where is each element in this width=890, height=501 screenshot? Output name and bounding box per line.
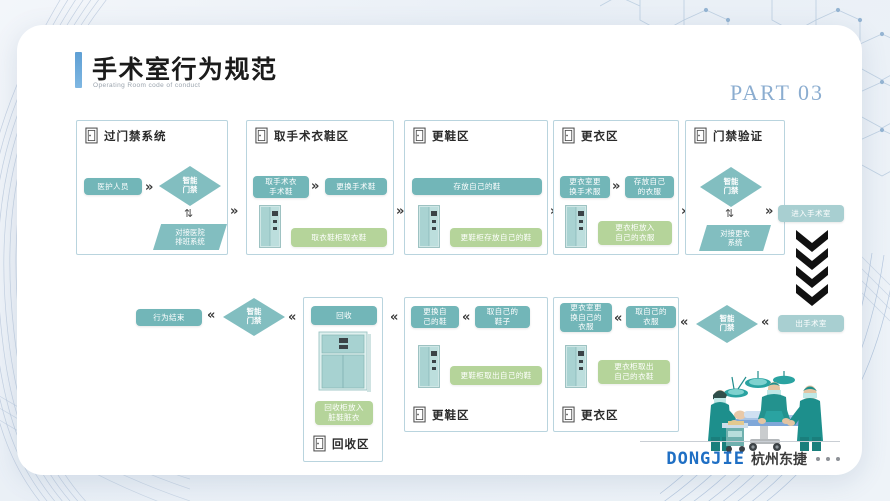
panel-take-gown-shoes: 取手术衣鞋区 取手术衣手术鞋 » 更换手术鞋 取衣鞋柜取衣鞋: [246, 120, 394, 255]
logo-chinese-name: 杭州东捷: [751, 449, 807, 469]
node-locker-note: 更衣柜取出自己的衣鞋: [598, 360, 670, 384]
arrow-right: »: [145, 181, 151, 194]
node-exit-operating-room[interactable]: 出手术室: [778, 315, 844, 332]
node-locker-note: 更鞋柜取出自己的鞋: [450, 366, 542, 385]
panel-bottom-change-shoes-area: 更换自己的鞋 « 取自己的鞋子 更鞋柜取出自己的鞋 更鞋区: [404, 297, 548, 432]
arrow-right: «: [462, 311, 468, 324]
panel-change-shoes-area: 更鞋区 存放自己的鞋 更鞋柜存放自己的鞋: [404, 120, 548, 255]
node-change-surgical-gown[interactable]: 更衣室更换手术服: [560, 176, 610, 198]
recycle-cabinet-icon: [318, 331, 372, 395]
arrow-right: «: [614, 312, 620, 325]
arrow-right: »: [311, 180, 317, 193]
node-change-surgical-shoes[interactable]: 更换手术鞋: [325, 178, 387, 195]
panel-label: 取手术衣鞋区: [274, 128, 349, 144]
node-enter-operating-room[interactable]: 进入手术室: [778, 205, 844, 222]
arrow-gate-to-end: «: [207, 309, 213, 322]
logo-dots: [816, 457, 840, 461]
arrow-gate-to-clothes: «: [680, 316, 686, 329]
panel-recycle-area: 回收 回收柜放入脏鞋脏衣 回收区: [303, 297, 383, 462]
panel-label: 更鞋区: [432, 128, 470, 144]
panel-title-take-gown-shoes: 取手术衣鞋区: [255, 127, 349, 144]
arrow-shoes-to-recycle: «: [390, 311, 396, 324]
panel-title-change-clothes-area: 更衣区: [562, 127, 619, 144]
arrow-right: »: [612, 180, 618, 193]
node-store-own-clothes[interactable]: 存放自己的衣服: [625, 176, 674, 198]
page-title: 手术室行为规范: [92, 50, 278, 86]
part-label: PART 03: [730, 80, 824, 106]
cabinet-icon: [259, 205, 283, 248]
node-locker-note: 更鞋柜存放自己的鞋: [450, 228, 542, 247]
cabinet-icon: [565, 345, 589, 388]
door-icon: [413, 406, 426, 423]
node-access-gate[interactable]: 智能门禁: [700, 167, 762, 207]
door-icon: [85, 127, 98, 144]
arrow-panel5-to-enter: »: [765, 205, 771, 218]
panel-title-change-shoes-area: 更鞋区: [413, 127, 470, 144]
slide-card: 手术室行为规范 Operating Room code of conduct P…: [17, 25, 862, 475]
panel-label: 更衣区: [581, 407, 619, 423]
cabinet-icon: [565, 205, 589, 248]
node-locker-note: 更衣柜放入自己的衣服: [598, 221, 672, 245]
door-icon: [313, 435, 326, 452]
door-icon: [694, 127, 707, 144]
panel-bottom-change-clothes-area: 更衣室更换自己的衣服 « 取自己的衣服 更衣柜取出自己的衣鞋 更衣区: [553, 297, 679, 432]
arrow-recycle-to-gate: «: [288, 311, 294, 324]
node-take-own-shoes[interactable]: 取自己的鞋子: [475, 306, 530, 328]
node-access-gate[interactable]: 智能门禁: [159, 166, 221, 206]
panel-label: 过门禁系统: [104, 128, 167, 144]
panel-access-verification: 门禁验证 智能门禁 ⇅ 对接更衣系统: [685, 120, 785, 255]
arrow-exit-to-gate: «: [761, 316, 767, 329]
node-locker-system[interactable]: 对接更衣系统: [699, 225, 771, 251]
node-access-gate-end[interactable]: 智能门禁: [223, 298, 285, 336]
panel-label: 门禁验证: [713, 128, 763, 144]
footer-divider: [640, 441, 840, 442]
down-chevrons-group: [792, 230, 832, 306]
node-person[interactable]: 医护人员: [84, 178, 142, 195]
arrow-panel2-to-panel3: »: [396, 205, 402, 218]
node-hospital-shift-system[interactable]: 对接医院排班系统: [153, 224, 227, 250]
arrow-panel1-to-panel2: »: [230, 205, 236, 218]
slide-header: 手术室行为规范 Operating Room code of conduct P…: [17, 25, 862, 100]
panel-change-clothes-area: 更衣区 更衣室更换手术服 » 存放自己的衣服 更衣柜放入自己的衣服: [553, 120, 679, 255]
node-access-gate-exit[interactable]: 智能门禁: [696, 305, 758, 343]
node-change-own-shoes[interactable]: 更换自己的鞋: [411, 306, 459, 328]
logo-wordmark: DONGJIE: [666, 449, 745, 469]
door-icon: [413, 127, 426, 144]
door-icon: [562, 127, 575, 144]
panel-title-bottom-change-clothes-area: 更衣区: [562, 406, 619, 423]
door-icon: [562, 406, 575, 423]
node-change-own-clothes[interactable]: 更衣室更换自己的衣服: [560, 303, 612, 332]
node-take-gown-shoes[interactable]: 取手术衣手术鞋: [253, 176, 309, 198]
page-subtitle: Operating Room code of conduct: [93, 82, 200, 89]
vertical-double-arrow: ⇅: [725, 207, 734, 220]
door-icon: [255, 127, 268, 144]
panel-title-access-system: 过门禁系统: [85, 127, 167, 144]
panel-label: 回收区: [332, 436, 370, 452]
node-recycle[interactable]: 回收: [311, 306, 377, 325]
cabinet-icon: [418, 205, 442, 248]
panel-access-system: 过门禁系统 医护人员 » 智能门禁 ⇅ 对接医院排班系统: [76, 120, 228, 255]
node-store-own-shoes[interactable]: 存放自己的鞋: [412, 178, 542, 195]
panel-title-recycle-area: 回收区: [313, 435, 370, 452]
node-behavior-end[interactable]: 行为结束: [136, 309, 202, 326]
panel-label: 更鞋区: [432, 407, 470, 423]
panel-title-bottom-change-shoes-area: 更鞋区: [413, 406, 470, 423]
title-accent-bar: [75, 52, 82, 88]
panel-title-access-verification: 门禁验证: [694, 127, 763, 144]
cabinet-icon: [418, 345, 442, 388]
node-take-own-clothes[interactable]: 取自己的衣服: [626, 306, 676, 328]
node-locker-note: 取衣鞋柜取衣鞋: [291, 228, 387, 247]
panel-label: 更衣区: [581, 128, 619, 144]
footer-logo: DONGJIE 杭州东捷: [666, 449, 840, 469]
vertical-double-arrow: ⇅: [184, 207, 193, 220]
node-recycle-note: 回收柜放入脏鞋脏衣: [315, 401, 373, 425]
